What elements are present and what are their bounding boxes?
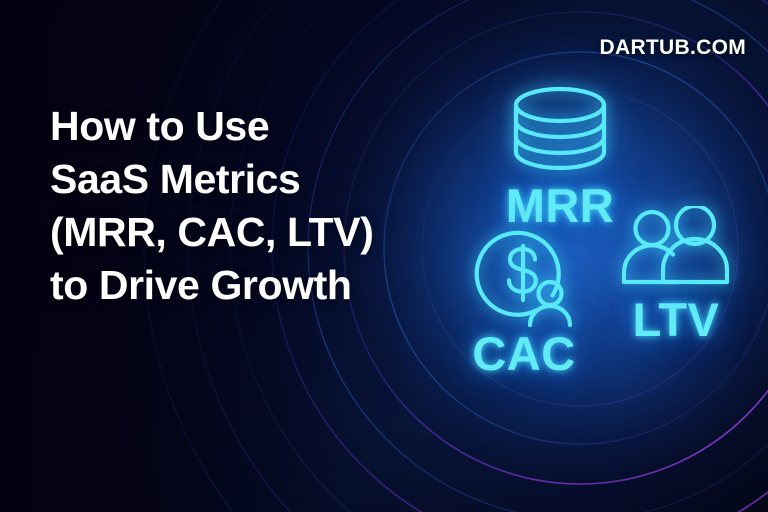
poster-canvas: DARTUB.COM How to Use SaaS Metrics (MRR,… [0, 0, 768, 512]
dollar-circle-person-icon [466, 228, 582, 328]
metric-label-cac: CAC [472, 330, 575, 377]
title-line-4: to Drive Growth [50, 259, 450, 312]
metric-label-ltv: LTV [633, 296, 720, 343]
title-line-2: SaaS Metrics [50, 153, 450, 206]
two-people-icon [616, 206, 736, 292]
title-line-3: (MRR, CAC, LTV) [50, 206, 450, 259]
page-title: How to Use SaaS Metrics (MRR, CAC, LTV) … [50, 100, 450, 312]
title-line-1: How to Use [50, 100, 450, 153]
site-logo[interactable]: DARTUB.COM [600, 36, 746, 60]
metric-group-ltv: LTV [616, 206, 736, 343]
metric-label-mrr: MRR [506, 182, 615, 229]
database-cylinder-icon [500, 84, 620, 176]
metric-group-cac: CAC [466, 228, 582, 377]
metric-group-mrr: MRR [500, 84, 620, 229]
